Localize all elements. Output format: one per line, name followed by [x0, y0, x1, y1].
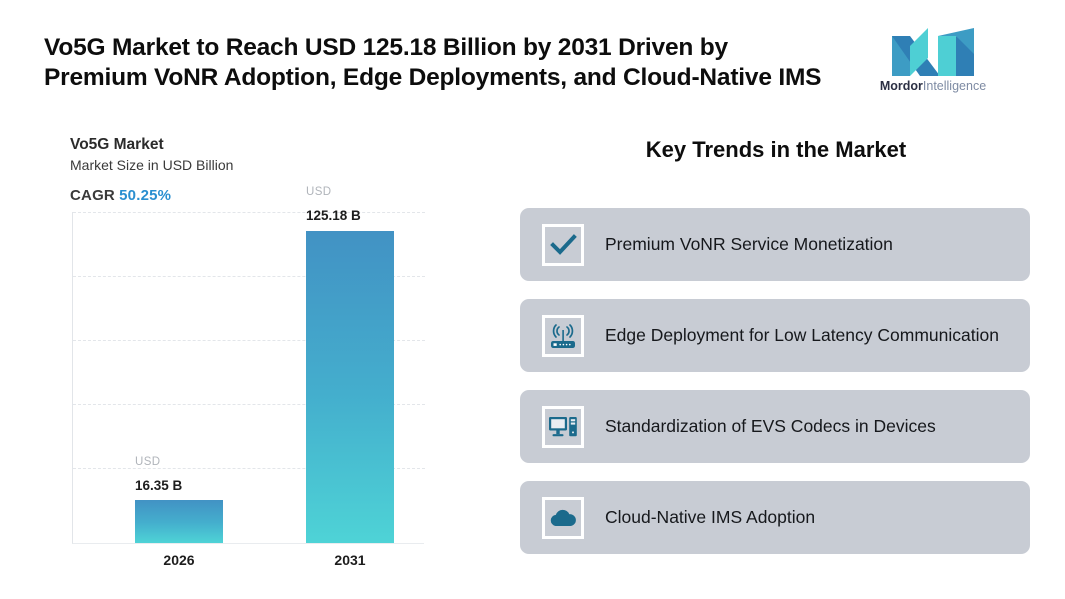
trend-icon-box-1	[542, 224, 584, 266]
trend-label-3: Standardization of EVS Codecs in Devices	[605, 414, 936, 439]
brand-name-bold: Mordor	[880, 79, 923, 93]
trend-icon-box-4	[542, 497, 584, 539]
desktop-computer-icon	[548, 413, 578, 441]
wireless-router-icon	[548, 321, 578, 351]
chart-subtitle: Market Size in USD Billion	[70, 157, 233, 173]
x-axis-label-2026: 2026	[135, 552, 223, 568]
chart-title: Vo5G Market	[70, 136, 164, 154]
trend-card-2[interactable]: Edge Deployment for Low Latency Communic…	[520, 299, 1030, 372]
trend-icon-box-3	[542, 406, 584, 448]
cagr-row: CAGR 50.25%	[70, 187, 171, 204]
brand-logo: MordorIntelligence	[878, 24, 988, 102]
chart-panel: Vo5G Market Market Size in USD Billion C…	[70, 136, 430, 566]
page-title: Vo5G Market to Reach USD 125.18 Billion …	[44, 33, 854, 93]
infographic-page: Vo5G Market to Reach USD 125.18 Billion …	[0, 0, 1065, 599]
chart-plot-area: USD 16.35 B USD 125.18 B 2026 2031	[72, 212, 424, 544]
bar-group-2026: USD 16.35 B	[135, 211, 223, 543]
trends-heading: Key Trends in the Market	[536, 137, 1016, 163]
trend-label-2: Edge Deployment for Low Latency Communic…	[605, 323, 999, 348]
cagr-label: CAGR	[70, 187, 115, 204]
bar-2026[interactable]	[135, 500, 223, 543]
bar-value-2026: 16.35 B	[135, 478, 182, 493]
bar-group-2031: USD 125.18 B	[306, 211, 394, 543]
mordor-m-mark-icon	[888, 24, 978, 76]
check-icon	[549, 231, 577, 259]
page-title-line-2: Premium VoNR Adoption, Edge Deployments,…	[44, 63, 854, 93]
brand-name-light: Intelligence	[923, 79, 986, 93]
brand-logo-text: MordorIntelligence	[878, 79, 988, 93]
trend-card-3[interactable]: Standardization of EVS Codecs in Devices	[520, 390, 1030, 463]
bar-unit-2031: USD	[306, 186, 331, 198]
bar-unit-2026: USD	[135, 456, 160, 468]
bar-2031[interactable]	[306, 231, 394, 543]
trend-label-1: Premium VoNR Service Monetization	[605, 232, 893, 257]
cloud-icon	[548, 507, 578, 529]
trend-card-1[interactable]: Premium VoNR Service Monetization	[520, 208, 1030, 281]
bar-value-2031: 125.18 B	[306, 208, 361, 223]
trend-card-4[interactable]: Cloud-Native IMS Adoption	[520, 481, 1030, 554]
trend-label-4: Cloud-Native IMS Adoption	[605, 505, 815, 530]
page-title-line-1: Vo5G Market to Reach USD 125.18 Billion …	[44, 33, 854, 63]
x-axis-label-2031: 2031	[306, 552, 394, 568]
trend-icon-box-2	[542, 315, 584, 357]
cagr-value: 50.25%	[119, 187, 171, 204]
